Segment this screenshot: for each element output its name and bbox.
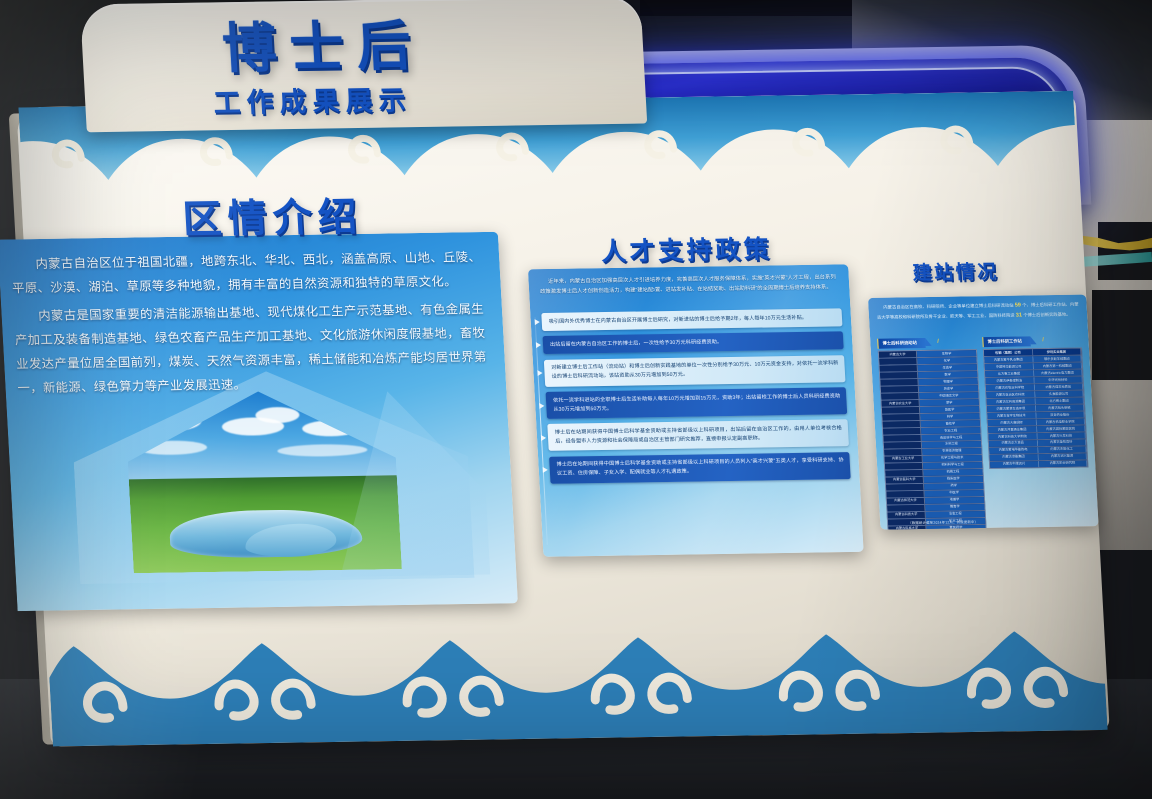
row-value: 内蒙古远兴能源 (1038, 453, 1087, 460)
row-value: 内蒙古京能集团 (990, 454, 1039, 461)
panel-station-status[interactable]: 内蒙古自治区在高校、科研院所、企业等单位建立博士后科研流动站 59 个、博士后科… (868, 294, 1099, 529)
policy-item-text: 博士后在站期间获得中国博士后科学基金资助或主持省部级以上科研项目的人员列入“英才… (556, 457, 844, 476)
row-category: 内蒙古农业大学 (882, 400, 920, 407)
panel2-title: 人才支持政策 (600, 229, 773, 268)
row-value: 中环光伏材料 (1034, 377, 1083, 384)
table-caption: 博士后科研工作站 / (982, 337, 1031, 347)
row-category: 内蒙古工业大学 (885, 456, 923, 463)
row-value: 材料科学与工程 (923, 462, 982, 469)
row-value: 内蒙古东能化工 (1038, 446, 1087, 453)
row-value: 内蒙古农牧业科学院 (986, 384, 1035, 391)
policy-item-text: 博士后在站期间获得中国博士后科学基金资助或主持省部级以上科研项目，出站后留在自治… (555, 425, 843, 444)
row-value: 机械工程 (923, 469, 982, 476)
row-value: 化学工程与技术 (923, 455, 982, 462)
row-value: 草学 (920, 399, 979, 406)
row-value: 教育学 (925, 504, 984, 511)
policy-item[interactable]: 依托一流学科进站的全职博士后生活补助每人每年10万元增加到15万元，资助3年；出… (546, 387, 848, 418)
row-value: 畜牧学 (921, 420, 980, 427)
row-category: 内蒙古科技大学 (888, 512, 926, 519)
policy-item[interactable]: 出站后留在内蒙古自治区工作的博士后，一次性给予30万元科研经费资助。 (543, 332, 844, 355)
arrow-marker-icon (535, 342, 540, 348)
slash-decor-icon: / (1042, 338, 1044, 344)
row-value: 双奇药业股份 (1036, 411, 1085, 418)
row-value: 包钢（集团）公司 (984, 349, 1033, 356)
row-value: 内蒙古河套酒业集团 (988, 426, 1037, 433)
policy-item[interactable]: 对新建立博士后工作站（流动站）和博士后创新实践基地的单位一次性分别给予30万元、… (544, 355, 846, 386)
row-value: 北方稀土集团 (1035, 397, 1084, 404)
row-value: 北方重工业集团 (985, 370, 1034, 377)
policy-item-text: 对新建立博士后工作站（流动站）和博士后创新实践基地的单位一次性分别给予30万元、… (551, 361, 839, 380)
policy-item-text: 出站后留在内蒙古自治区工作的博士后，一次性给予30万元科研经费资助。 (550, 339, 723, 348)
panel1-title: 区情介绍 (181, 186, 364, 245)
slash-decor-icon: / (937, 339, 939, 345)
cloud-motif-bottom (44, 572, 1107, 746)
header-slab: 博士后 工作成果展示 (80, 0, 647, 132)
row-value: 内蒙古electric电力集团 (1034, 370, 1083, 377)
panel-talent-policy[interactable]: 近年来，内蒙古自治区加强高层次人才引进培养力度，完善高层次人才服务保障体系，实施… (528, 264, 864, 557)
row-value: 内蒙古科技大学附院 (988, 433, 1037, 440)
policy-bullet-list: 吸引国内外优秀博士在内蒙古自治区开展博士后研究，对新进站的博士后给予期2年，每人… (541, 308, 851, 489)
panel3-intro-text: 内蒙古自治区在高校、科研院所、企业等单位建立博士后科研流动站 59 个、博士后科… (876, 301, 1079, 324)
row-value: 冶金工程 (926, 511, 985, 518)
row-value: 内蒙古自治区农科院 (986, 391, 1035, 398)
row-value: 内蒙古第一机械集团 (1033, 363, 1082, 370)
row-category: 内蒙古大学 (879, 351, 917, 358)
row-value: 内蒙古国际蒙医医院 (1037, 425, 1086, 432)
arrow-marker-icon (542, 467, 547, 473)
row-value: 兽医学 (920, 406, 979, 413)
page-subtitle: 工作成果展示 (213, 87, 413, 117)
row-value: 久泰能源公司 (1035, 390, 1084, 397)
page-title: 博士后 (221, 19, 425, 76)
row-value: 数学 (918, 371, 977, 378)
panel1-paragraph: 内蒙古自治区位于祖国北疆，地跨东北、华北、西北，涵盖高原、山地、丘陵、平原、沙漠… (10, 246, 483, 301)
policy-item[interactable]: 博士后在站期间获得中国博士后科学基金资助或主持省部级以上科研项目的人员列入“英才… (549, 452, 851, 483)
row-value: 中国语言文学 (919, 392, 978, 399)
row-value: 临床医学 (924, 476, 983, 483)
row-value: 内蒙古圣牧高科 (1037, 439, 1086, 446)
station-tables: 博士后科研流动站 / 内蒙古大学生物学 化学 生态学 数学 物理学 历史学 中国… (877, 329, 1092, 530)
policy-item[interactable]: 吸引国内外优秀博士在内蒙古自治区开展博士后研究，对新进站的博士后给予期2年，每人… (541, 308, 842, 331)
row-value: 内蒙古蒙草生态环境 (987, 405, 1036, 412)
table-flow-stations: 博士后科研流动站 / 内蒙古大学生物学 化学 生态学 数学 物理学 历史学 中国… (877, 330, 987, 529)
station-count-base: 31 (1016, 312, 1023, 318)
intro-before: 内蒙古自治区在高校、科研院所、企业等单位建立博士后科研流动站 (883, 303, 1013, 310)
row-value: 内蒙古伊泰煤制油 (985, 377, 1034, 384)
row-value: 生物学 (917, 350, 976, 357)
row-value: 内蒙古中煤远兴 (990, 461, 1039, 468)
arrow-marker-icon (540, 435, 545, 441)
row-value: 农林经济管理 (922, 448, 981, 455)
row-value: 内蒙古机电职业学院 (1036, 418, 1085, 425)
row-value: 内蒙古蒙电华能热电 (989, 447, 1038, 454)
station-count-flow: 59 (1015, 303, 1022, 309)
row-value: 内蒙古金宇生物技术 (987, 412, 1036, 419)
row-value: 药学 (924, 483, 983, 490)
row-value: 内蒙古正大食品 (989, 440, 1038, 447)
panel3-title: 建站情况 (912, 257, 1000, 285)
row-value: 内蒙古大唐国际 (988, 419, 1037, 426)
grassland-photo (102, 383, 443, 583)
row-value: 内蒙古奶业研究院 (1039, 460, 1088, 467)
row-value: 内蒙古包头钢铁 (1035, 404, 1084, 411)
arrow-marker-icon (537, 370, 542, 376)
row-value: 内蒙古兴发科技 (1037, 432, 1086, 439)
table-work-stations: 博士后科研工作站 / 包钢（集团）公司伊利实业集团 内蒙古蒙牛乳业集团鄂尔多斯羊… (982, 329, 1092, 530)
panel-region-intro[interactable]: 内蒙古自治区位于祖国北疆，地跨东北、华北、西北，涵盖高原、山地、丘陵、平原、沙漠… (0, 232, 518, 611)
exhibit-board: BO SHI HOU TUANDUI Excellence Forged In … (0, 0, 1138, 789)
grid-flow: 内蒙古大学生物学 化学 生态学 数学 物理学 历史学 中国语言文学 内蒙古农业大… (878, 349, 987, 529)
table-caption: 博士后科研流动站 / (877, 338, 926, 348)
policy-item-text: 吸引国内外优秀博士在内蒙古自治区开展博士后研究，对新进站的博士后给予期2年，每人… (549, 314, 808, 324)
row-value: 化学 (917, 357, 976, 364)
row-value: 中医学 (924, 490, 983, 497)
arrow-marker-icon (534, 319, 539, 325)
exhibition-photo: BO SHI HOU TUANDUI Excellence Forged In … (0, 0, 1152, 799)
row-value: 农业工程 (921, 427, 980, 434)
policy-item[interactable]: 博士后在站期间获得中国博士后科学基金资助或主持省部级以上科研项目，出站后留在自治… (547, 420, 849, 451)
row-value: 伊利实业集团 (1032, 349, 1081, 356)
row-value: 鄂尔多斯羊绒集团 (1033, 356, 1082, 363)
grid-work: 包钢（集团）公司伊利实业集团 内蒙古蒙牛乳业集团鄂尔多斯羊绒集团 中国神华能源公… (983, 348, 1089, 469)
row-value: 食品科学与工程 (921, 434, 980, 441)
row-value: 地理学 (925, 497, 984, 504)
row-value: 物理学 (918, 378, 977, 385)
arrow-marker-icon (539, 402, 544, 408)
row-category: 内蒙古师范大学 (887, 498, 925, 505)
policy-item-text: 依托一流学科进站的全职博士后生活补助每人每年10万元增加到15万元，资助3年；出… (553, 393, 841, 412)
row-value: 林学 (920, 413, 979, 420)
row-value: 内蒙古亿利资源集团 (987, 398, 1036, 405)
row-value: 内蒙古蒙牛乳业集团 (984, 356, 1033, 363)
row-value: 历史学 (919, 385, 978, 392)
row-category: 内蒙古医科大学 (886, 477, 924, 484)
table-row: 内蒙古中煤远兴内蒙古奶业研究院 (990, 460, 1087, 468)
row-value: 中国神华能源公司 (985, 363, 1034, 370)
row-value: 水利工程 (922, 441, 981, 448)
row-value: 生态学 (918, 364, 977, 371)
intro-after: 个博士后创新实践基地。 (1023, 312, 1071, 318)
row-value: 内蒙古煤炭地质局 (1034, 384, 1083, 391)
